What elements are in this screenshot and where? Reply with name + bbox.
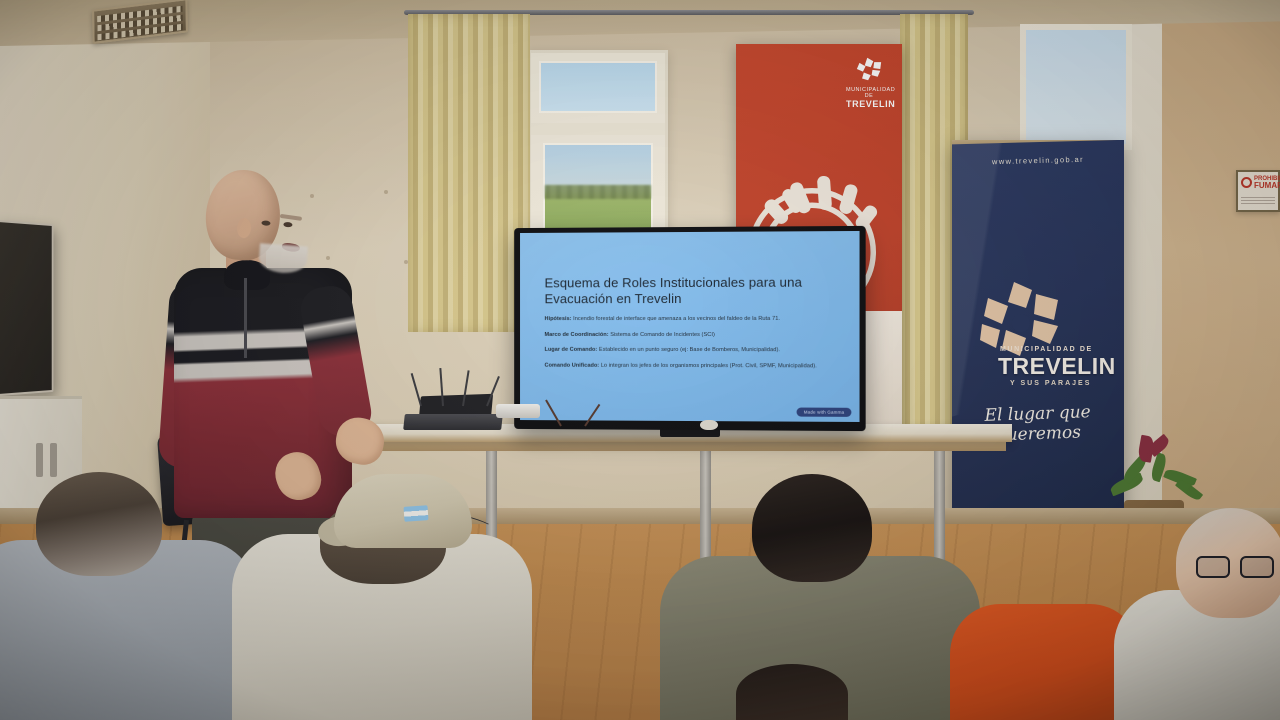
slide-title: Esquema de Roles Institucionales para un… [545, 275, 836, 308]
blue-rollup-banner: www.trevelin.gob.ar MUNICIPALIDAD DE TRE… [952, 140, 1124, 558]
wall-monitor [0, 220, 53, 397]
curtain-left [408, 14, 530, 332]
sign-subtitle: FUMAR [1254, 181, 1280, 190]
audience-member-head [736, 664, 848, 720]
window-right [1020, 24, 1132, 150]
slide-bullet: Comando Unificado: Lo integran los jefes… [545, 362, 842, 370]
banner-parajes: Y SUS PARAJES [1010, 380, 1122, 387]
photo-scene: PROHIBIDO FUMAR [0, 0, 1280, 720]
slide-bullet: Lugar de Comando: Establecido en un punt… [545, 347, 842, 354]
audience-member-head [752, 474, 872, 582]
red-banner-logo: MUNICIPALIDAD DE TREVELIN [846, 56, 892, 109]
window-center [528, 50, 668, 238]
trevelin-mark-icon [849, 56, 889, 82]
slide-screen: Esquema de Roles Institucionales para un… [520, 231, 860, 422]
red-banner-kicker: MUNICIPALIDAD DE [846, 87, 892, 99]
slide-watermark: Made with Gamma [797, 408, 852, 417]
banner-url: www.trevelin.gob.ar [952, 154, 1124, 167]
slide-bullet: Hipótesis: Incendio forestal de interfac… [545, 316, 842, 323]
banner-city: TREVELIN [998, 354, 1122, 378]
laptop [403, 414, 503, 430]
table-apron [380, 441, 1006, 451]
audience-member-head [36, 472, 162, 576]
presentation-tv: Esquema de Roles Institucionales para un… [514, 226, 865, 431]
presenter-head [203, 168, 283, 263]
slide-bullet: Marco de Coordinación: Sistema de Comand… [545, 331, 842, 338]
argentina-flag-icon [404, 505, 429, 522]
eyeglasses-icon [1196, 556, 1280, 580]
red-banner-brand: TREVELIN [846, 99, 892, 109]
audience-member-body [950, 604, 1140, 720]
presenter-zipper [244, 278, 247, 358]
no-smoking-sign: PROHIBIDO FUMAR [1236, 170, 1280, 212]
mouse [700, 420, 718, 430]
slide-body: Hipótesis: Incendio forestal de interfac… [545, 316, 842, 379]
banner-muni-label: MUNICIPALIDAD DE [1000, 346, 1120, 353]
wireless-router [496, 404, 540, 418]
